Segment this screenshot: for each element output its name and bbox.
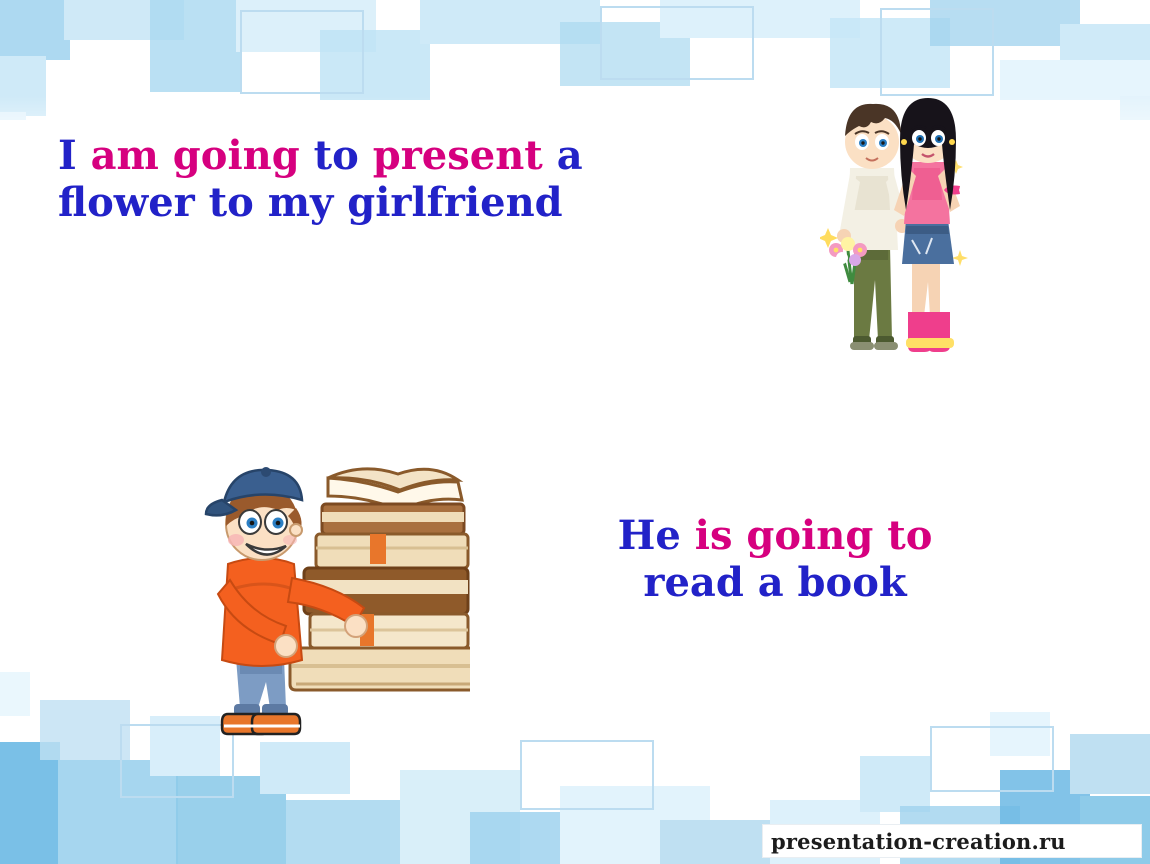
text-run: a (557, 132, 583, 179)
text-run: flower to my girlfriend (58, 179, 563, 226)
sentence-future-flower: I am going to present a flower to my gir… (58, 132, 758, 226)
text-run: is going to (695, 512, 933, 559)
boy-carrying-books-clipart (200, 460, 470, 750)
text-run: He (618, 512, 695, 559)
sentence-line: flower to my girlfriend (58, 179, 758, 226)
text-run: I (58, 132, 91, 179)
sentence-line: read a book (540, 559, 1010, 606)
text-run: present (373, 132, 557, 179)
sentence-future-book: He is going to read a book (540, 512, 1010, 606)
watermark-text: presentation-creation.ru (763, 825, 1141, 854)
slide-canvas: I am going to present a flower to my gir… (0, 0, 1150, 864)
text-run: am going (91, 132, 314, 179)
text-run: to (314, 132, 373, 179)
couple-with-flowers-clipart (820, 50, 980, 370)
watermark: presentation-creation.ru (762, 824, 1142, 858)
text-run: read a book (643, 559, 906, 606)
sentence-line: I am going to present a (58, 132, 758, 179)
sentence-line: He is going to (540, 512, 1010, 559)
